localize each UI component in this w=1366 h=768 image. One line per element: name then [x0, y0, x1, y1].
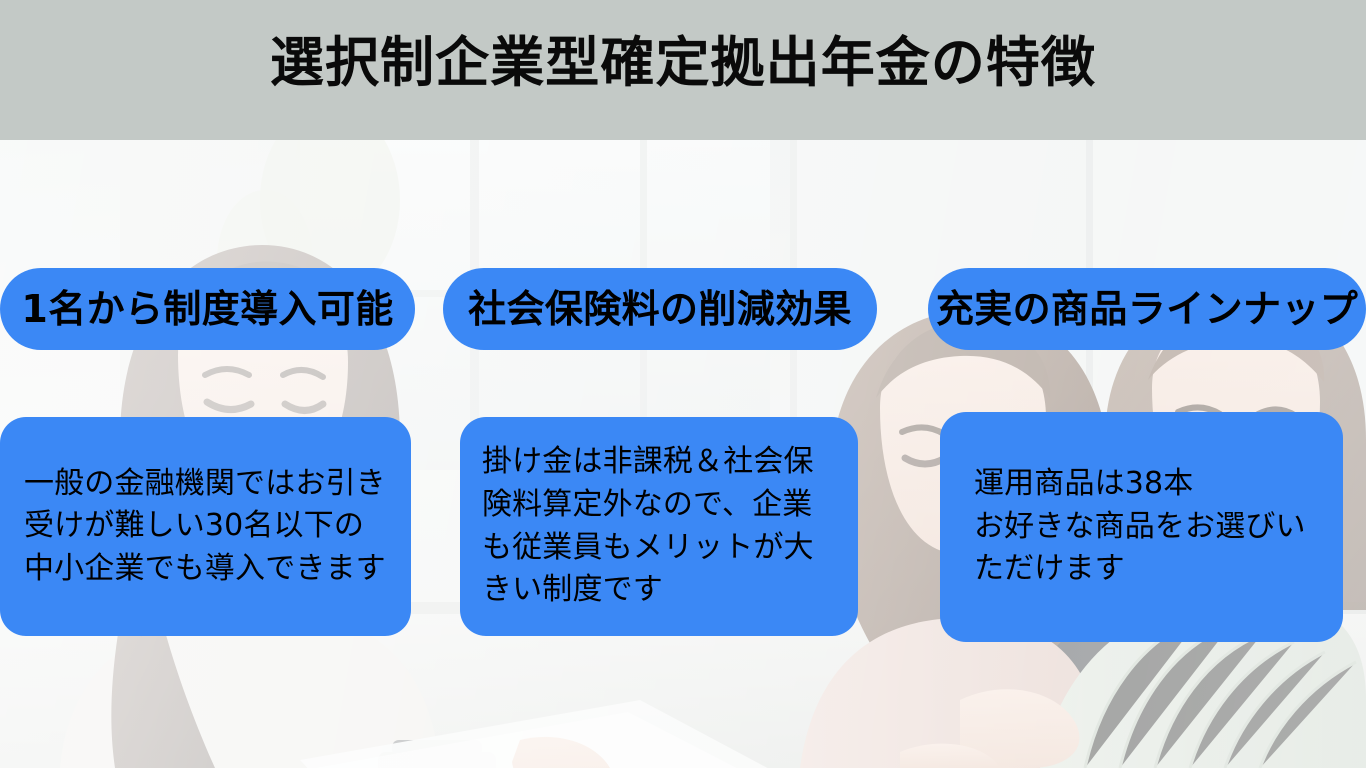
feature-body-text-3: 運用商品は38本 お好きな商品をお選びいただけます: [974, 463, 1325, 591]
feature-body-box-2: 掛け金は非課税＆社会保険料算定外なので、企業も従業員もメリットが大きい制度です: [460, 417, 858, 636]
slide-canvas: 選択制企業型確定拠出年金の特徴 1名から制度導入可能 一般の金融機関ではお引き受…: [0, 0, 1366, 768]
feature-heading-pill-3: 充実の商品ラインナップ: [928, 268, 1366, 350]
feature-body-box-1: 一般の金融機関ではお引き受けが難しい30名以下の中小企業でも導入できます: [0, 417, 411, 636]
feature-heading-pill-2: 社会保険料の削減効果: [443, 268, 877, 350]
feature-body-text-1: 一般の金融機関ではお引き受けが難しい30名以下の中小企業でも導入できます: [24, 463, 391, 591]
header-band: 選択制企業型確定拠出年金の特徴: [0, 0, 1366, 140]
page-title: 選択制企業型確定拠出年金の特徴: [0, 32, 1366, 94]
feature-body-text-2: 掛け金は非課税＆社会保険料算定外なので、企業も従業員もメリットが大きい制度です: [482, 441, 840, 611]
feature-body-box-3: 運用商品は38本 お好きな商品をお選びいただけます: [940, 412, 1343, 642]
feature-heading-pill-1: 1名から制度導入可能: [0, 268, 415, 350]
